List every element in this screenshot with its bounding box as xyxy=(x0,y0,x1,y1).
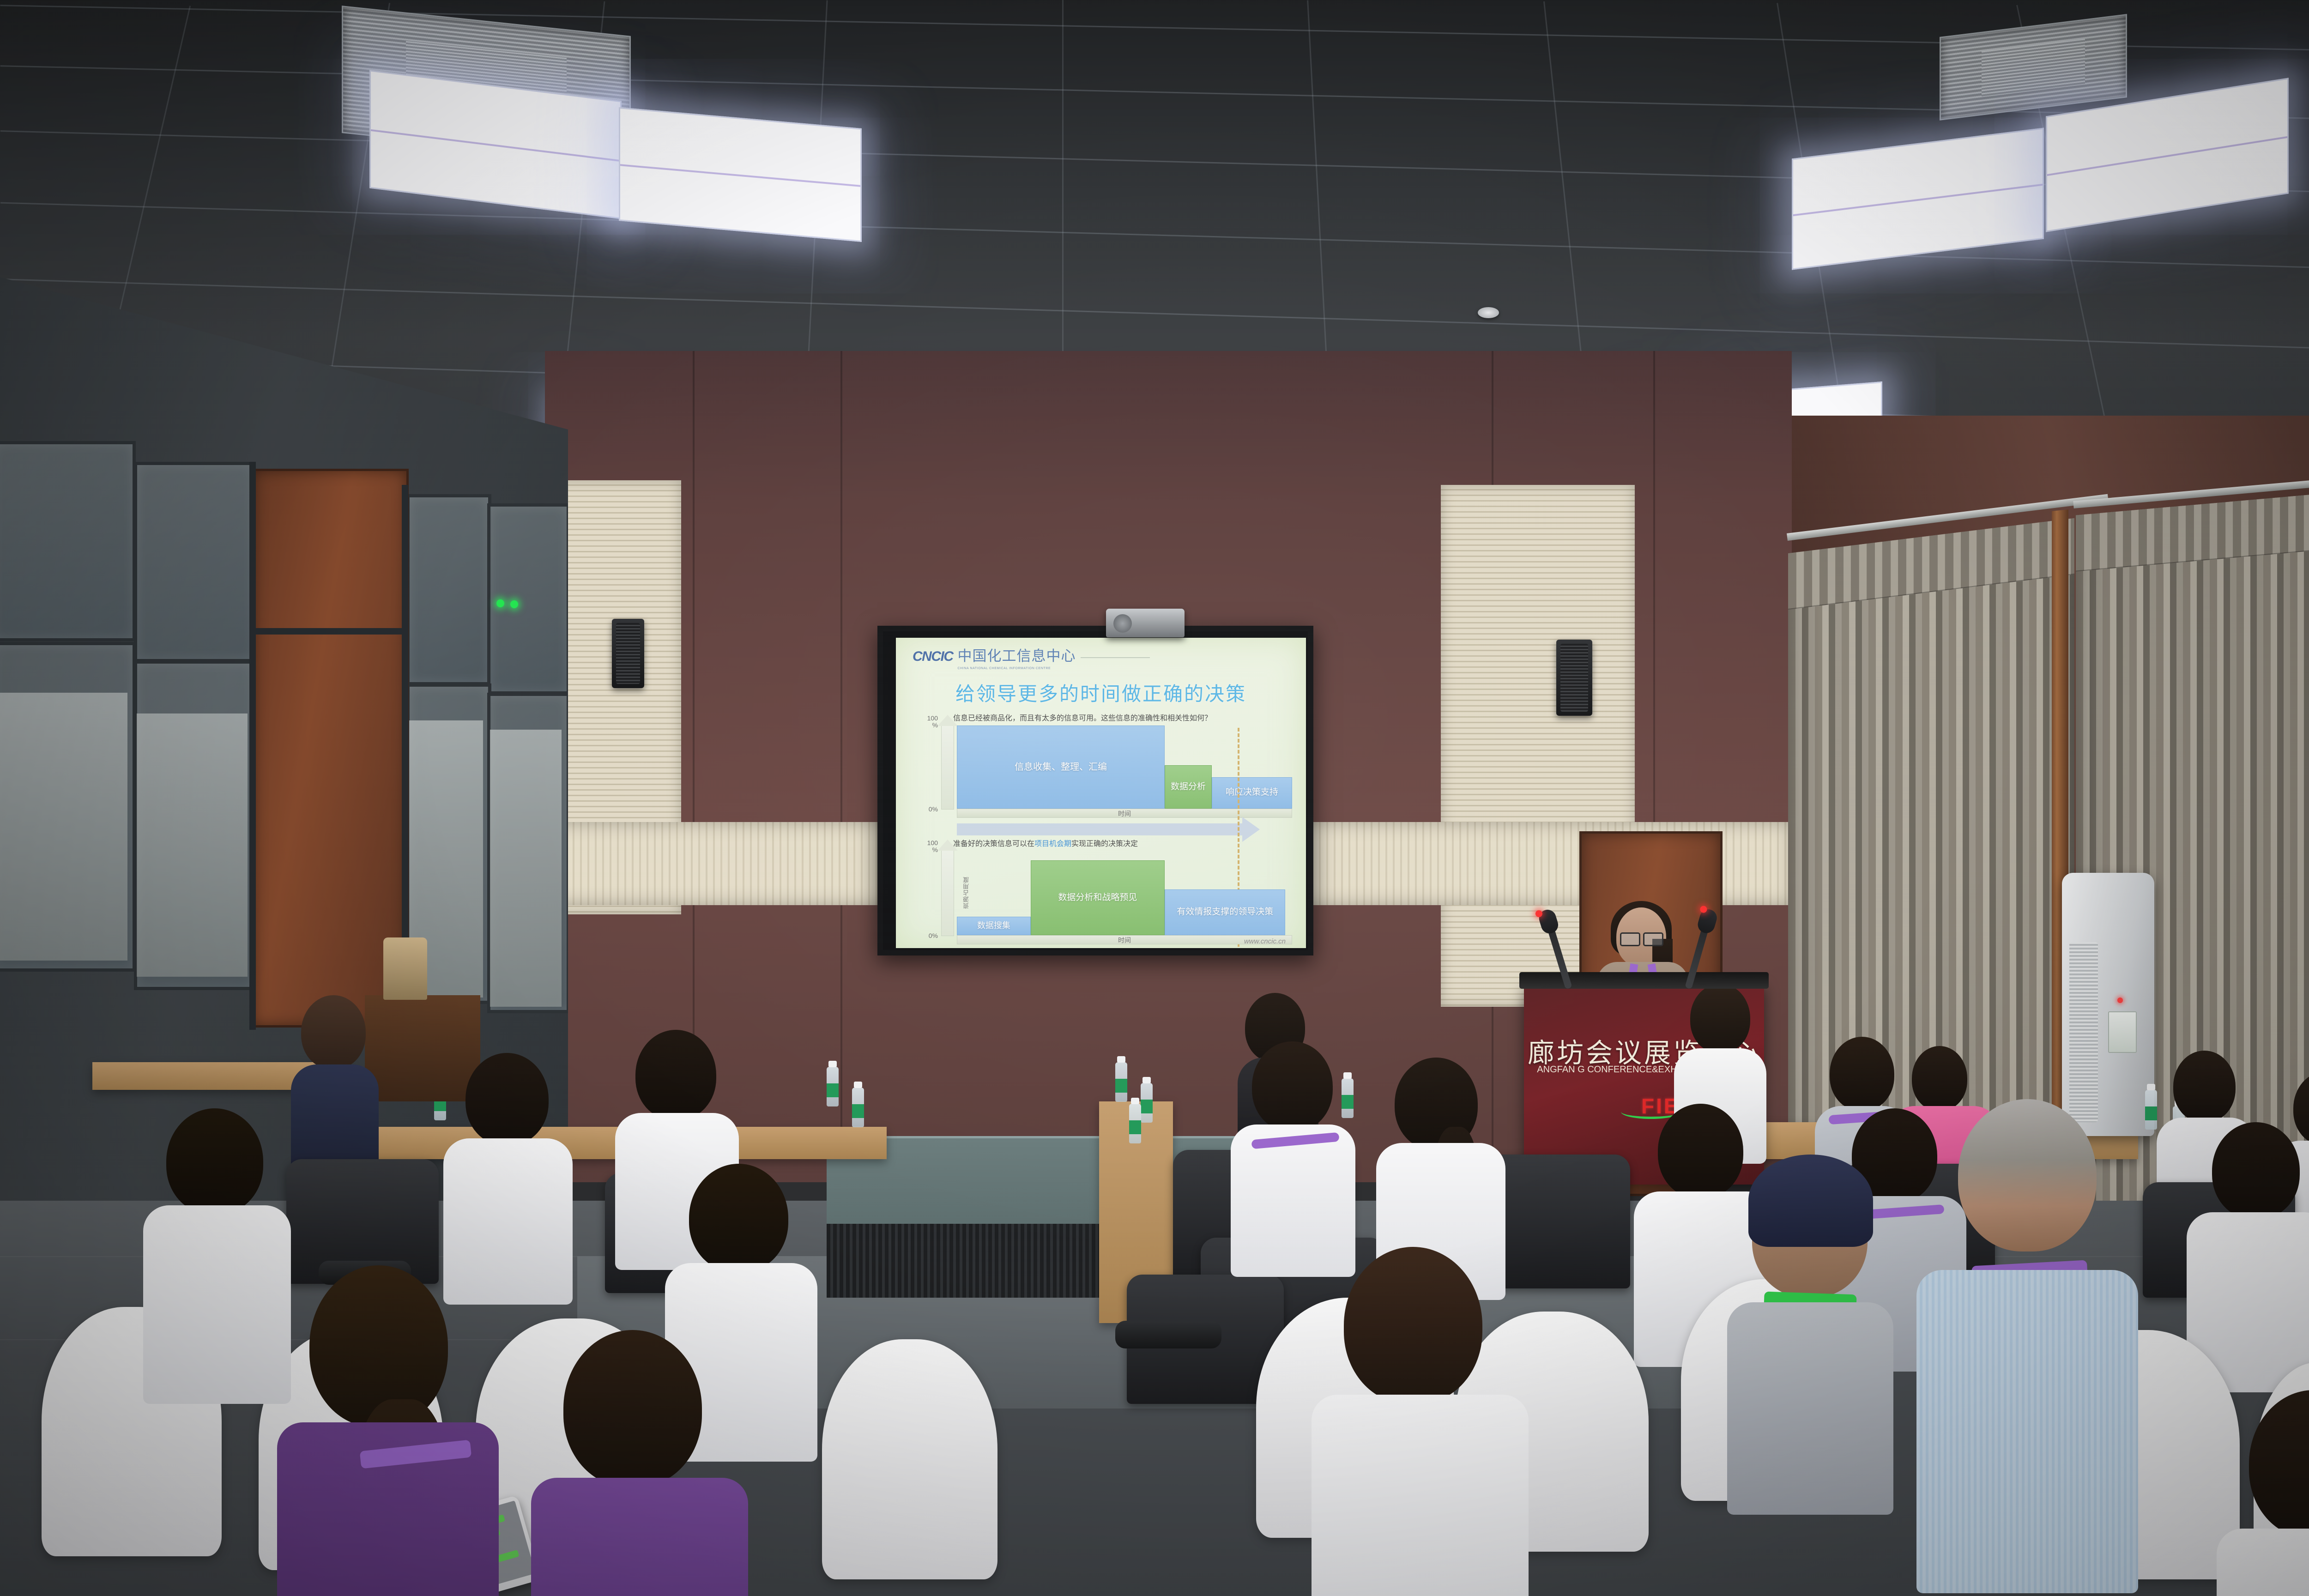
baseball-cap xyxy=(1748,1155,1873,1247)
bar-data-gathering: 数据搜集 xyxy=(957,917,1031,935)
y-axis-min-label: 0% xyxy=(919,805,938,813)
chart-lower-x-axis: 时间 xyxy=(957,935,1292,944)
cncic-logo: CNCIC 中国化工信息中心 CHINA NATIONAL CHEMICAL I… xyxy=(913,649,1076,671)
glasses-icon xyxy=(1620,932,1663,944)
status-led-icon xyxy=(496,599,504,607)
bar-analysis-foresight: 数据分析和战略预见 xyxy=(1031,860,1165,935)
projection-screen: CNCIC 中国化工信息中心 CHINA NATIONAL CHEMICAL I… xyxy=(877,626,1313,955)
display-cabinet xyxy=(365,995,480,1101)
x-axis-title: 时间 xyxy=(957,936,1292,945)
status-led-icon xyxy=(510,600,518,608)
ceiling-projector xyxy=(1106,609,1185,637)
chair-armrest xyxy=(1115,1321,1221,1348)
slide-title: 给领导更多的时间做正确的决策 xyxy=(896,678,1306,707)
y-axis-pct-label: % xyxy=(932,846,938,853)
bar-decision-support: 响应决策支持 xyxy=(1212,777,1292,809)
chart-lower-bars: 数据搜集 数据分析和战略预见 有效情报支撑的领导决策 xyxy=(957,850,1292,935)
water-bottle xyxy=(852,1088,864,1127)
logo-mark: CNCIC xyxy=(913,649,953,665)
wall-speaker-right xyxy=(1556,640,1592,716)
hvac-diffuser xyxy=(1940,14,2127,121)
water-bottle xyxy=(1115,1062,1127,1102)
chart-lower-y-axis: 100 % 0% 资源占用度 xyxy=(941,849,954,936)
slide-footer-url: www.cncic.cn xyxy=(1244,937,1286,945)
water-bottle xyxy=(1141,1083,1153,1123)
bar-info-collection: 信息收集、整理、汇编 xyxy=(957,725,1165,809)
y-axis-pct-label: % xyxy=(932,721,938,729)
y-axis-max-label: 100 xyxy=(927,714,938,722)
bar-data-analysis: 数据分析 xyxy=(1165,765,1212,809)
caption-text-post: 实现正确的决策决定 xyxy=(1071,840,1138,848)
presentation-slide: CNCIC 中国化工信息中心 CHINA NATIONAL CHEMICAL I… xyxy=(896,638,1306,948)
chart-upper-y-axis: 100 % 0% 资源占用度 xyxy=(941,725,954,810)
logo-english-name: CHINA NATIONAL CHEMICAL INFORMATION CENT… xyxy=(958,667,1051,670)
chart-lower-caption: 准备好的决策信息可以在项目机会期实现正确的决策决定 xyxy=(953,837,1295,848)
air-conditioner xyxy=(2062,873,2154,1136)
y-axis-max-label: 100 xyxy=(927,839,938,846)
water-bottle xyxy=(1342,1078,1354,1118)
decor-sculpture xyxy=(383,937,427,1000)
logo-chinese-name: 中国化工信息中心 xyxy=(958,648,1076,664)
y-axis-min-label: 0% xyxy=(919,932,938,939)
table-left-row xyxy=(342,1127,887,1159)
covered-chair[interactable] xyxy=(822,1339,997,1579)
bar-leader-decision: 有效情报支撑的领导决策 xyxy=(1165,889,1285,935)
ceiling-light-panel xyxy=(619,107,862,242)
caption-text-highlight: 项目机会期 xyxy=(1034,840,1071,848)
smoke-detector-icon xyxy=(1478,307,1499,318)
water-bottle xyxy=(827,1067,839,1106)
timeline-arrow xyxy=(957,823,1243,835)
chart-upper-bars: 信息收集、整理、汇编 数据分析 响应决策支持 xyxy=(957,725,1292,809)
ceiling-light-panel xyxy=(1792,127,2044,270)
wall-speaker-left xyxy=(612,619,644,688)
x-axis-title: 时间 xyxy=(957,809,1292,818)
water-bottle xyxy=(2145,1090,2157,1130)
caption-text-pre: 准备好的决策信息可以在 xyxy=(953,840,1034,848)
chart-lower: 准备好的决策信息可以在项目机会期实现正确的决策决定 100 % 0% 资源占用度… xyxy=(923,837,1295,943)
conference-room-photo: CNCIC 中国化工信息中心 CHINA NATIONAL CHEMICAL I… xyxy=(0,0,2309,1596)
water-bottle xyxy=(1129,1104,1141,1143)
chart-upper-caption: 信息已经被商品化，而且有太多的信息可用。这些信息的准确性和相关性如何？ xyxy=(953,712,1295,723)
podium-desktop xyxy=(1519,972,1769,989)
chart-upper-x-axis: 时间 xyxy=(957,809,1292,818)
